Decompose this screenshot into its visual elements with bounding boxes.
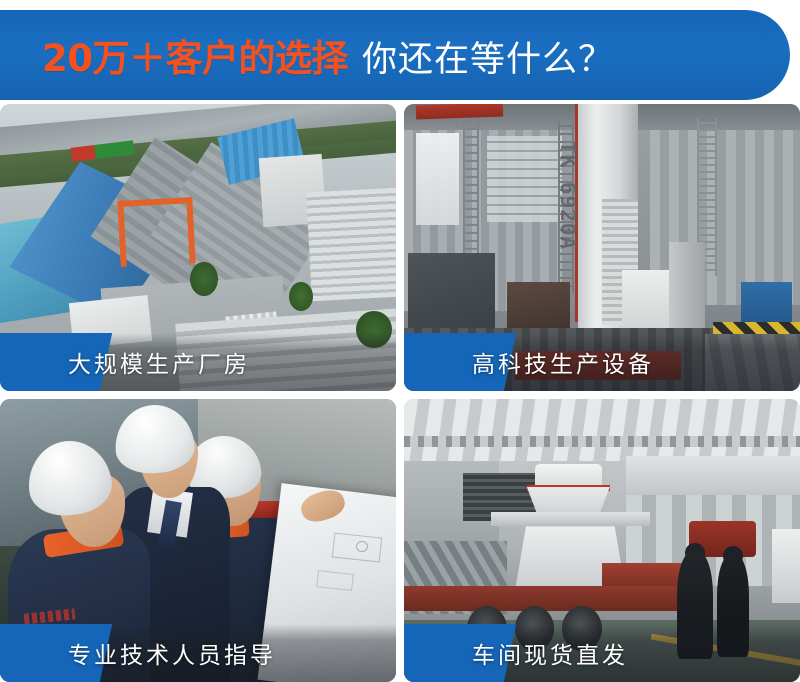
caption-bar: 大规模生产厂房 <box>0 333 396 391</box>
office-building-b-shape <box>306 188 396 302</box>
caption-bar: 专业技术人员指导 <box>0 624 396 682</box>
showcase-card-engineers[interactable]: 专业技术人员指导 <box>0 399 396 682</box>
trailer-deck-shape <box>404 586 705 611</box>
tree-b-shape <box>289 282 313 311</box>
caption-label: 高科技生产设备 <box>472 345 654 379</box>
roof-truss-shape <box>404 436 800 447</box>
banner-accent-text: 20万＋客户的选择 <box>42 28 348 82</box>
white-machine-shape <box>772 529 800 603</box>
showcase-card-shipment[interactable]: 车间现货直发 <box>404 399 800 682</box>
banner-question-text: 你还在等什么？ <box>362 31 614 82</box>
caption-label: 大规模生产厂房 <box>68 345 250 379</box>
showcase-card-equipment[interactable]: TK 6920A 高科技生产设备 <box>404 104 800 391</box>
promo-banner: 20万＋客户的选择 你还在等什么？ <box>0 10 790 100</box>
window-grid-shape <box>487 136 562 222</box>
white-panel-shape <box>622 270 670 333</box>
blue-equipment-shape <box>741 282 792 328</box>
orange-gantry-crane-shape <box>117 197 196 267</box>
showcase-card-factory[interactable]: 大规模生产厂房 <box>0 104 396 391</box>
machine-model-label: TK 6920A <box>556 141 580 250</box>
tree-a-shape <box>190 262 218 296</box>
workpiece-b-shape <box>507 282 570 334</box>
banner-text-group: 20万＋客户的选择 你还在等什么？ <box>42 28 614 82</box>
caption-label: 专业技术人员指导 <box>68 636 276 670</box>
mezzanine-shape <box>626 456 800 501</box>
caption-bar: 车间现货直发 <box>404 624 800 682</box>
control-cabinet-shape <box>669 242 705 331</box>
caption-label: 车间现货直发 <box>472 636 628 670</box>
ceiling-shape <box>404 399 800 461</box>
blueprint-drawing-b-shape <box>316 570 353 591</box>
blueprint-circle-shape <box>356 541 368 552</box>
window-left-shape <box>416 133 460 225</box>
caption-bar: 高科技生产设备 <box>404 333 800 391</box>
crusher-base-plate-shape <box>491 512 649 526</box>
workpiece-a-shape <box>408 253 495 330</box>
showcase-grid: 大规模生产厂房 TK 6920A <box>0 104 800 682</box>
